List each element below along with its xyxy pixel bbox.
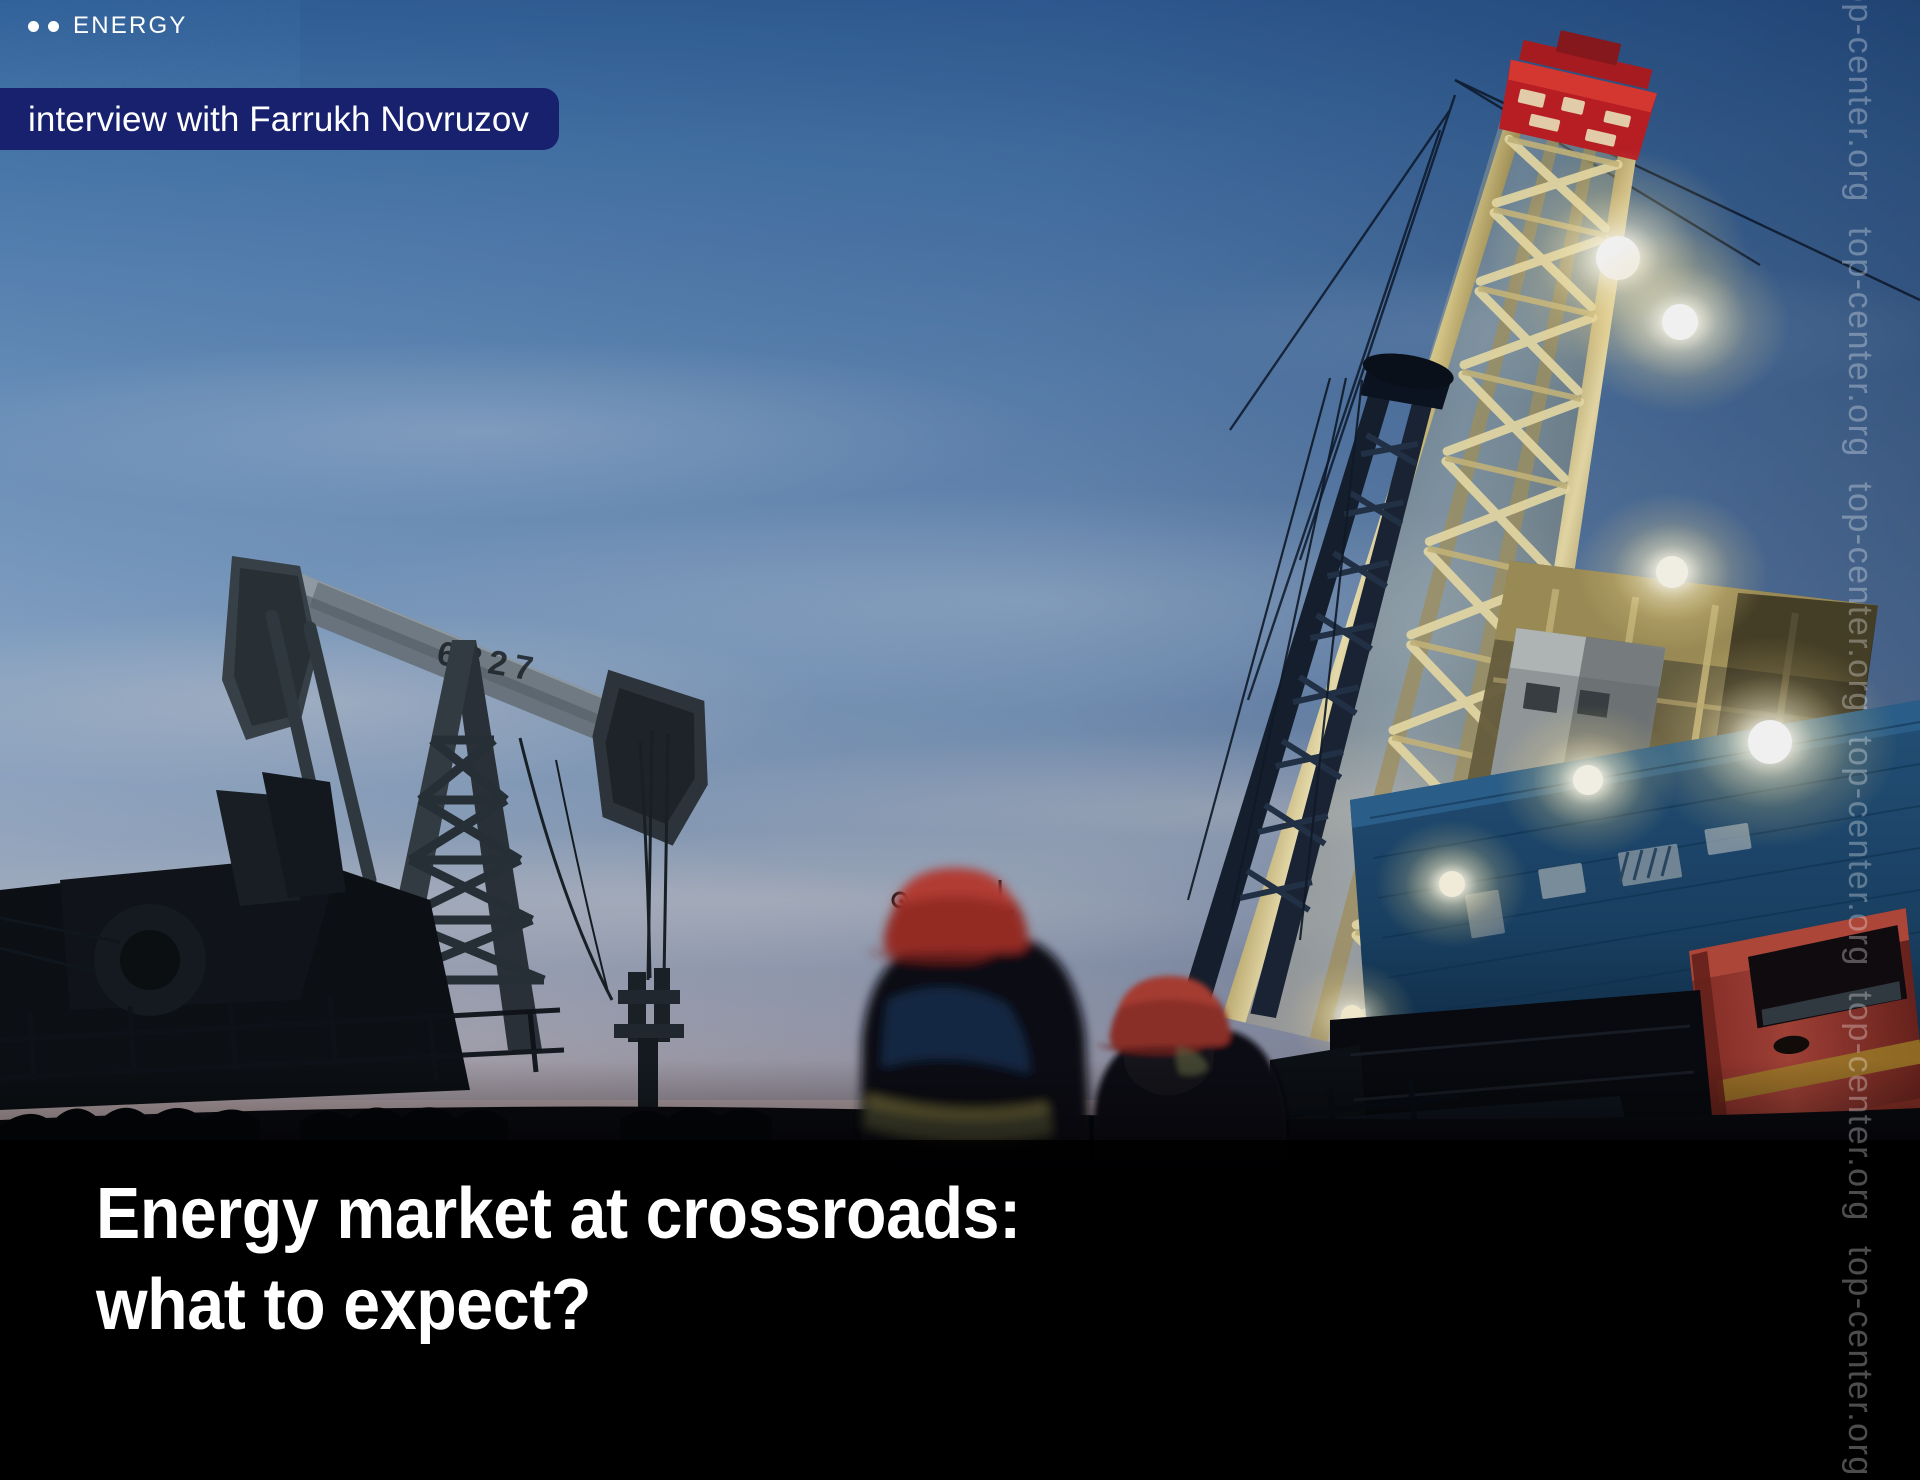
kicker-dot-icon — [48, 21, 59, 32]
poster-canvas: 6827 — [0, 0, 1920, 1480]
kicker-label: ENERGY — [73, 14, 188, 38]
interview-badge-label: interview with Farrukh Novruzov — [28, 102, 529, 137]
interview-badge[interactable]: interview with Farrukh Novruzov — [0, 88, 559, 150]
kicker-dots-icon — [28, 21, 59, 32]
headline-line-2: what to expect? — [96, 1260, 1476, 1351]
category-kicker: ENERGY — [28, 14, 188, 38]
page-title: Energy market at crossroads: what to exp… — [96, 1169, 1596, 1350]
kicker-dot-icon — [28, 21, 39, 32]
headline-line-1: Energy market at crossroads: — [96, 1169, 1476, 1260]
